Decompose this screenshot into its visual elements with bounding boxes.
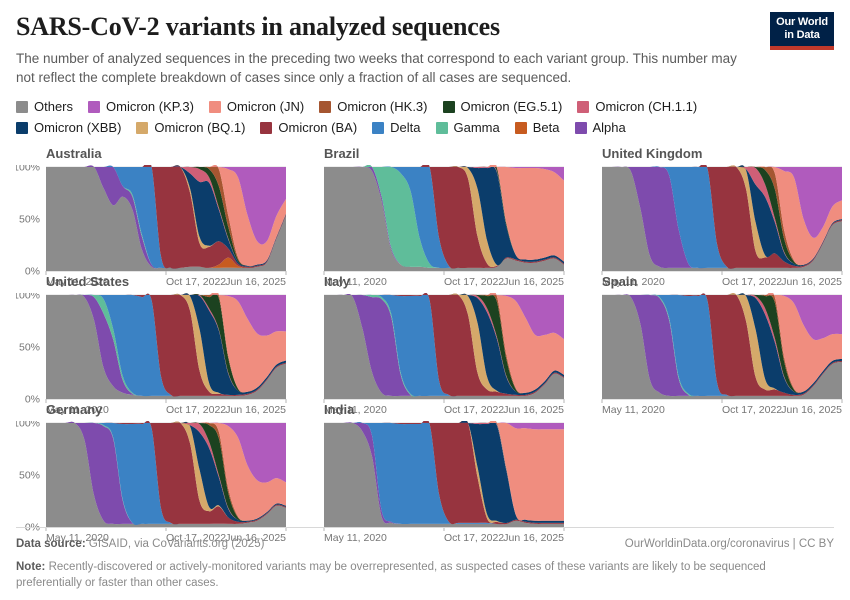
y-tick-label: 100% [16,165,40,174]
owid-logo-line2: in Data [775,29,829,42]
legend-label: Alpha [593,120,626,135]
legend-swatch-icon [88,101,100,113]
panel-title: Spain [602,275,846,289]
legend-label: Omicron (BA) [278,120,357,135]
legend-item[interactable]: Omicron (XBB) [16,120,121,135]
y-tick-label: 50% [19,341,40,353]
legend-swatch-icon [577,101,589,113]
chart-page: SARS-CoV-2 variants in analyzed sequence… [0,0,850,600]
panel-title: India [324,403,568,417]
panel-title: United Kingdom [602,147,846,161]
legend-label: Delta [390,120,420,135]
legend-item[interactable]: Omicron (CH.1.1) [577,99,697,114]
chart-panel[interactable]: IndiaMay 11, 2020Oct 17, 2022Jun 16, 202… [294,403,568,529]
legend-swatch-icon [319,101,331,113]
legend-item[interactable]: Alpha [575,120,626,135]
legend-swatch-icon [372,122,384,134]
panel-plot[interactable]: May 11, 2020Oct 17, 2022Jun 16, 2025 [572,293,846,419]
panel-plot[interactable]: May 11, 2020Oct 17, 2022Jun 16, 2025 [294,293,568,419]
legend-label: Omicron (CH.1.1) [595,99,697,114]
legend-item[interactable]: Beta [515,120,560,135]
legend-label: Omicron (XBB) [34,120,121,135]
attribution-link[interactable]: OurWorldinData.org/coronavirus | CC BY [625,536,834,553]
legend-label: Beta [533,120,560,135]
data-source: Data source: GISAID, via CoVariants.org … [16,536,264,553]
legend-swatch-icon [443,101,455,113]
legend-item[interactable]: Omicron (EG.5.1) [443,99,563,114]
y-tick-label: 50% [19,469,40,481]
legend-item[interactable]: Delta [372,120,420,135]
chart-panel[interactable]: SpainMay 11, 2020Oct 17, 2022Jun 16, 202… [572,275,846,401]
legend-label: Omicron (BQ.1) [154,120,245,135]
legend-item[interactable]: Omicron (BQ.1) [136,120,245,135]
footer-note-value: Recently-discovered or actively-monitore… [16,561,766,590]
chart-panel[interactable]: Germany0%50%100%May 11, 2020Oct 17, 2022… [16,403,290,529]
legend-label: Omicron (EG.5.1) [461,99,563,114]
legend-swatch-icon [136,122,148,134]
footer: Data source: GISAID, via CoVariants.org … [16,527,834,592]
legend-item[interactable]: Others [16,99,73,114]
panel-title: Italy [324,275,568,289]
legend-swatch-icon [515,122,527,134]
panel-title: United States [46,275,290,289]
panel-grid: Australia0%50%100%May 11, 2020Oct 17, 20… [16,147,834,529]
legend-label: Omicron (HK.3) [337,99,427,114]
legend-item[interactable]: Omicron (BA) [260,120,357,135]
chart-panel[interactable]: ItalyMay 11, 2020Oct 17, 2022Jun 16, 202… [294,275,568,401]
owid-logo-line1: Our World [775,16,829,29]
legend-item[interactable]: Omicron (KP.3) [88,99,194,114]
legend-label: Omicron (KP.3) [106,99,194,114]
y-tick-label: 50% [19,213,40,225]
legend-swatch-icon [575,122,587,134]
panel-plot[interactable]: 0%50%100%May 11, 2020Oct 17, 2022Jun 16,… [16,293,290,419]
legend-swatch-icon [209,101,221,113]
footer-note-label: Note: [16,561,45,573]
panel-plot[interactable]: May 11, 2020Oct 17, 2022Jun 16, 2025 [294,165,568,291]
page-title: SARS-CoV-2 variants in analyzed sequence… [16,12,834,42]
legend-swatch-icon [260,122,272,134]
panel-title: Germany [46,403,290,417]
panel-title: Australia [46,147,290,161]
y-tick-label: 100% [16,293,40,302]
data-source-value: GISAID, via CoVariants.org (2025) [89,538,265,550]
data-source-label: Data source: [16,538,86,550]
chart-panel[interactable]: United KingdomMay 11, 2020Oct 17, 2022Ju… [572,147,846,273]
legend-item[interactable]: Gamma [436,120,500,135]
legend-label: Gamma [454,120,500,135]
chart-panel[interactable]: United States0%50%100%May 11, 2020Oct 17… [16,275,290,401]
x-tick-label: Oct 17, 2022 [722,404,782,416]
y-tick-label: 100% [16,421,40,430]
x-tick-label: Jun 16, 2025 [781,404,842,416]
page-subtitle: The number of analyzed sequences in the … [16,49,756,87]
legend-item[interactable]: Omicron (HK.3) [319,99,427,114]
legend-label: Others [34,99,73,114]
chart-panel[interactable]: Australia0%50%100%May 11, 2020Oct 17, 20… [16,147,290,273]
panel-plot[interactable]: May 11, 2020Oct 17, 2022Jun 16, 2025 [572,165,846,291]
legend-swatch-icon [16,122,28,134]
legend-label: Omicron (JN) [227,99,304,114]
x-tick-label: May 11, 2020 [602,404,665,416]
header: SARS-CoV-2 variants in analyzed sequence… [16,0,834,87]
panel-title: Brazil [324,147,568,161]
footer-note: Note: Recently-discovered or actively-mo… [16,559,806,592]
legend-swatch-icon [436,122,448,134]
legend-item[interactable]: Omicron (JN) [209,99,304,114]
legend: OthersOmicron (KP.3)Omicron (JN)Omicron … [16,99,806,135]
panel-plot[interactable]: 0%50%100%May 11, 2020Oct 17, 2022Jun 16,… [16,165,290,291]
chart-panel[interactable]: BrazilMay 11, 2020Oct 17, 2022Jun 16, 20… [294,147,568,273]
legend-swatch-icon [16,101,28,113]
owid-logo[interactable]: Our World in Data [770,12,834,50]
